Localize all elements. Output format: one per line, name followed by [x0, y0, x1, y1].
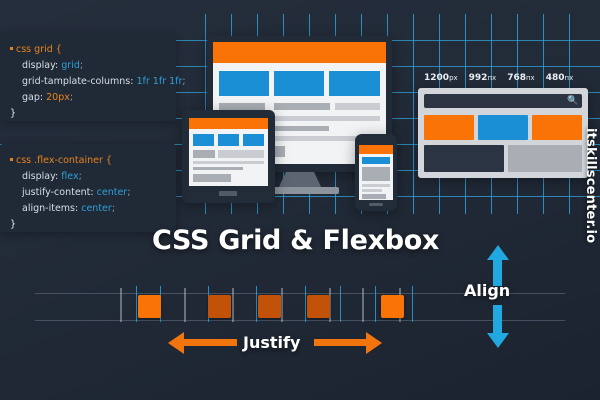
page-title: CSS Grid & Flexbox [152, 225, 439, 256]
flex-item [381, 295, 404, 318]
flex-item [307, 295, 330, 318]
breakpoint-label: 1200px [424, 73, 458, 83]
align-label: Align [464, 281, 510, 300]
code-close-brace: } [10, 217, 166, 233]
code-selector-line: css grid { [10, 42, 166, 58]
search-icon[interactable]: 🔍 [567, 95, 578, 106]
code-block-grid: css grid { display: grid; grid-tamplate-… [0, 33, 176, 121]
code-declaration: grid-tamplate-columns: 1fr 1fr 1fr; [10, 74, 166, 90]
code-declaration: align-items: center; [10, 201, 166, 217]
infographic-canvas: 1200px992пx768пx480пx 🔍 css grid { displ… [0, 0, 600, 400]
flex-item [258, 295, 281, 318]
breakpoint-unit: px [449, 74, 458, 82]
justify-label: Justify [243, 333, 300, 352]
search-input[interactable] [424, 94, 582, 108]
code-close-brace: } [10, 106, 166, 122]
breakpoint-labels: 1200px992пx768пx480пx [424, 73, 573, 83]
breakpoint-label: 480пx [546, 73, 574, 83]
code-declaration: display: grid; [10, 58, 166, 74]
flex-item [138, 295, 161, 318]
code-selector-line: css .flex-container { [10, 153, 166, 169]
watermark: itskillscenter.io [583, 128, 598, 243]
breakpoint-unit: пx [565, 74, 574, 82]
breakpoint-unit: пx [487, 74, 496, 82]
breakpoint-label: 992пx [469, 73, 497, 83]
breakpoint-unit: пx [526, 74, 535, 82]
breakpoint-label: 768пx [507, 73, 535, 83]
bullet-icon [10, 158, 13, 161]
code-declaration: justify-content: center; [10, 185, 166, 201]
code-declaration: display: flex; [10, 169, 166, 185]
flex-item [208, 295, 231, 318]
code-declaration: gap: 20px; [10, 90, 166, 106]
code-block-flex: css .flex-container { display: flex; jus… [0, 144, 176, 232]
bullet-icon [10, 47, 13, 50]
